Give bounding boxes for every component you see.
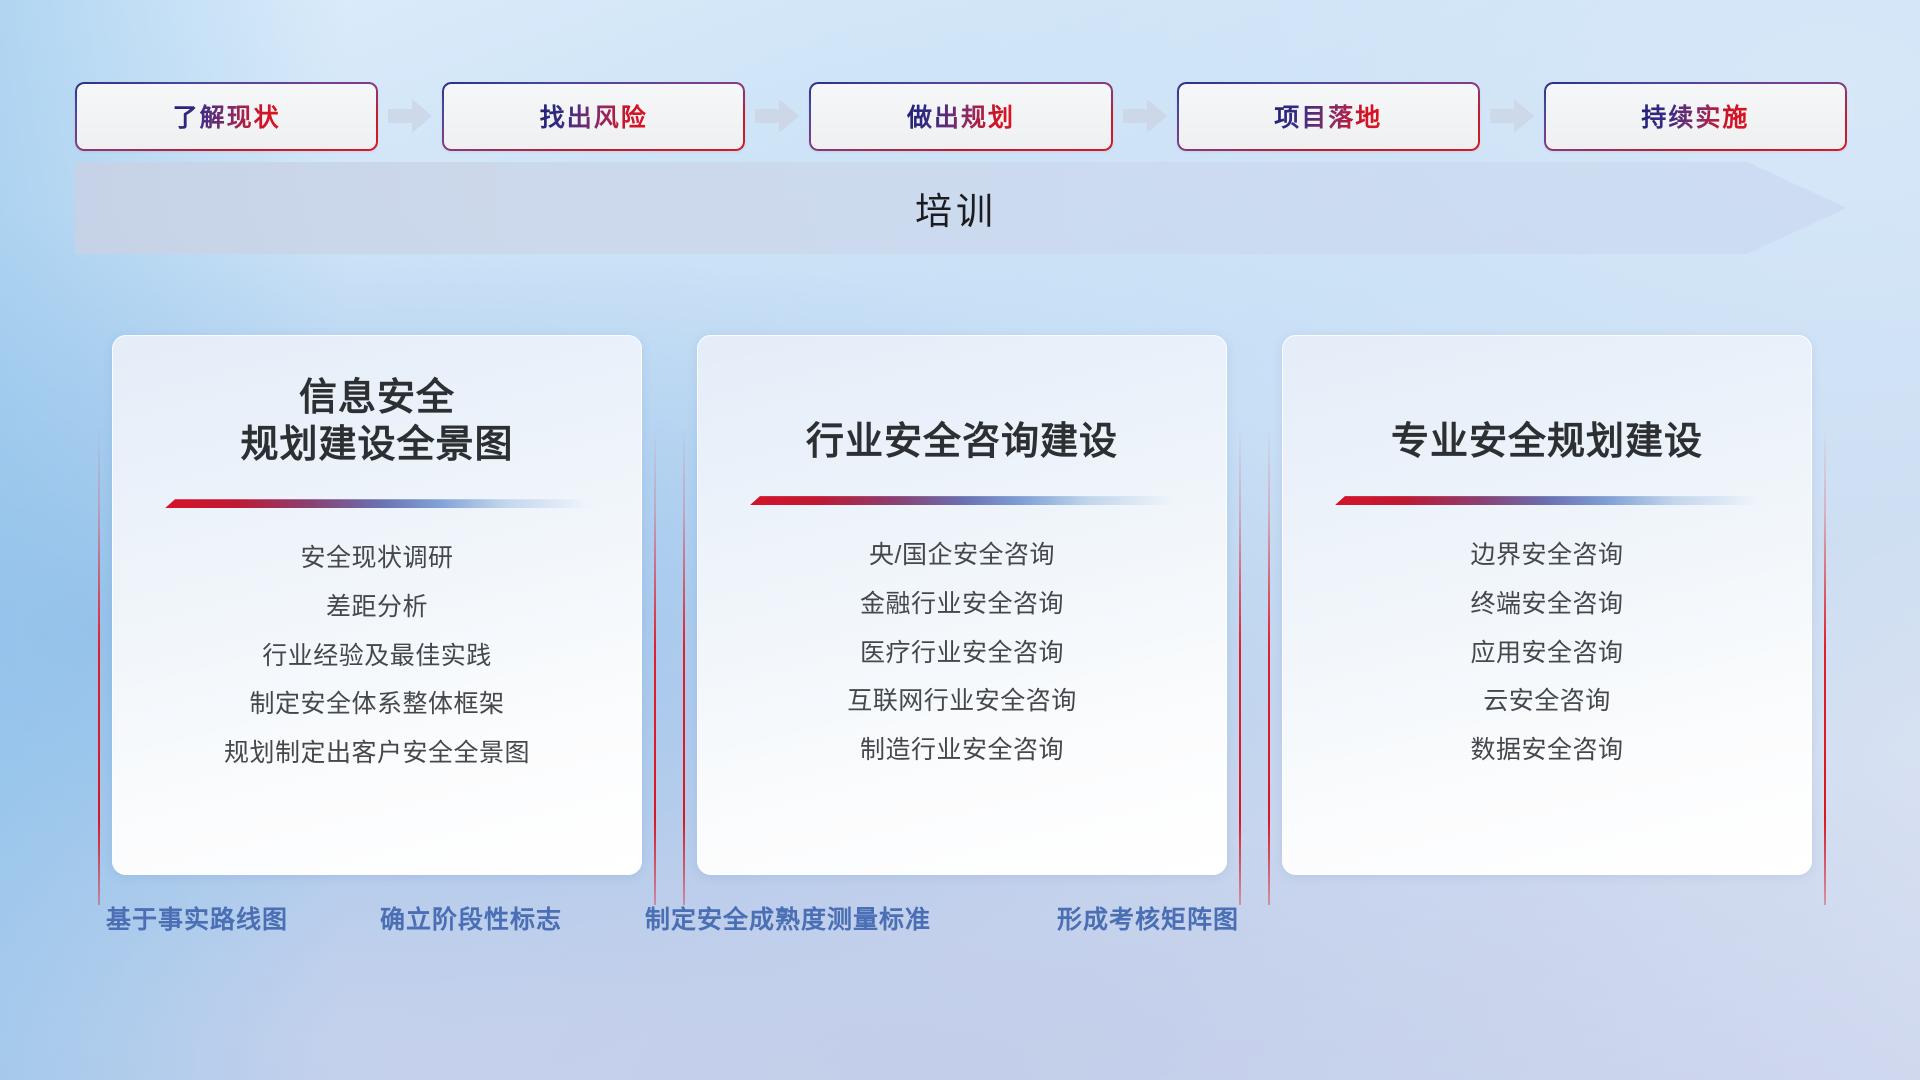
caption-row: 基于事实路线图 确立阶段性标志 制定安全成熟度测量标准 形成考核矩阵图 (0, 900, 1920, 950)
card-item-list-3: 边界安全咨询 终端安全咨询 应用安全咨询 云安全咨询 数据安全咨询 (1470, 539, 1623, 768)
caption-2: 确立阶段性标志 (380, 900, 562, 936)
step-label-3: 做出规划 (907, 98, 1015, 134)
list-item: 规划制定出客户安全全景图 (224, 737, 530, 771)
list-item: 安全现状调研 (300, 542, 453, 576)
card-title-1: 信息安全 规划建设全景图 (240, 375, 513, 469)
step-arrow-icon-4 (1490, 98, 1534, 134)
card-title-2: 行业安全咨询建设 (806, 419, 1118, 466)
list-item: 制造行业安全咨询 (860, 734, 1064, 768)
card-information-security-panorama[interactable]: 信息安全 规划建设全景图 安全现状调研 差距分析 行业经验及最佳实践 制定安全体… (112, 335, 642, 875)
card-rail-right-3 (1824, 427, 1826, 905)
list-item: 互联网行业安全咨询 (847, 685, 1077, 719)
list-item: 行业经验及最佳实践 (262, 640, 492, 674)
card-divider-1 (165, 499, 589, 508)
list-item: 边界安全咨询 (1470, 539, 1623, 573)
card-rail-left-2 (683, 427, 685, 905)
card-item-list-2: 央/国企安全咨询 金融行业安全咨询 医疗行业安全咨询 互联网行业安全咨询 制造行… (847, 539, 1077, 768)
list-item: 央/国企安全咨询 (869, 539, 1055, 573)
training-banner: 培训 (75, 162, 1847, 254)
step-box-4[interactable]: 项目落地 (1177, 82, 1480, 151)
card-rail-left-3 (1268, 427, 1270, 905)
card-professional-security-planning[interactable]: 专业安全规划建设 边界安全咨询 终端安全咨询 应用安全咨询 云安全咨询 数据安全… (1282, 335, 1812, 875)
step-label-4: 项目落地 (1274, 98, 1382, 134)
card-item-list-1: 安全现状调研 差距分析 行业经验及最佳实践 制定安全体系整体框架 规划制定出客户… (224, 542, 530, 771)
step-box-3[interactable]: 做出规划 (809, 82, 1112, 151)
caption-4: 形成考核矩阵图 (1057, 900, 1239, 936)
card-rail-right-1 (654, 427, 656, 905)
list-item: 医疗行业安全咨询 (860, 637, 1064, 671)
step-box-1[interactable]: 了解现状 (75, 82, 378, 151)
list-item: 应用安全咨询 (1470, 637, 1623, 671)
step-arrow-icon-2 (755, 98, 799, 134)
list-item: 制定安全体系整体框架 (249, 688, 504, 722)
list-item: 终端安全咨询 (1470, 588, 1623, 622)
card-industry-security-consulting[interactable]: 行业安全咨询建设 央/国企安全咨询 金融行业安全咨询 医疗行业安全咨询 互联网行… (697, 335, 1227, 875)
list-item: 差距分析 (326, 591, 428, 625)
list-item: 金融行业安全咨询 (860, 588, 1064, 622)
list-item: 云安全咨询 (1483, 685, 1611, 719)
step-arrow-icon-1 (388, 98, 432, 134)
step-label-1: 了解现状 (173, 98, 281, 134)
caption-1: 基于事实路线图 (106, 900, 288, 936)
step-label-2: 找出风险 (540, 98, 648, 134)
slide-canvas: 了解现状 找出风险 做出规划 项目落地 (0, 0, 1920, 1080)
card-divider-2 (750, 496, 1174, 505)
step-label-5: 持续实施 (1641, 98, 1749, 134)
card-title-3: 专业安全规划建设 (1391, 419, 1703, 466)
list-item: 数据安全咨询 (1470, 734, 1623, 768)
card-divider-3 (1335, 496, 1759, 505)
caption-3: 制定安全成熟度测量标准 (645, 900, 931, 936)
step-arrow-icon-3 (1123, 98, 1167, 134)
step-box-5[interactable]: 持续实施 (1544, 82, 1847, 151)
process-step-row: 了解现状 找出风险 做出规划 项目落地 (75, 81, 1847, 151)
card-row: 信息安全 规划建设全景图 安全现状调研 差距分析 行业经验及最佳实践 制定安全体… (112, 335, 1812, 875)
card-rail-right-2 (1239, 427, 1241, 905)
card-rail-left-1 (98, 427, 100, 905)
step-box-2[interactable]: 找出风险 (442, 82, 745, 151)
banner-label: 培训 (75, 162, 1847, 254)
